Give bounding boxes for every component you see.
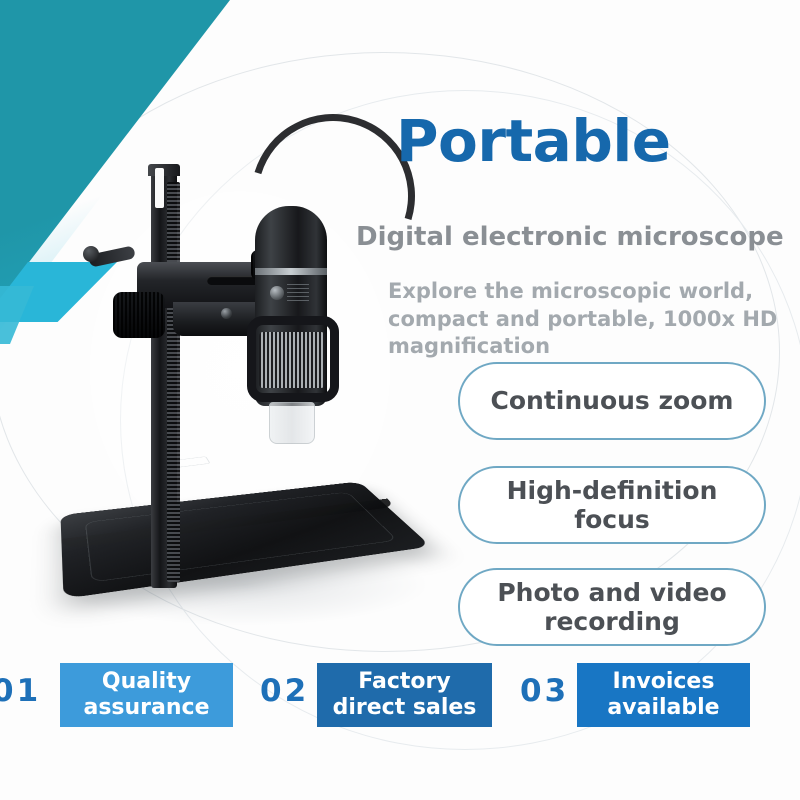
focus-adjust-knob	[113, 292, 165, 338]
badge-number: 03	[520, 673, 569, 709]
rack-teeth	[167, 182, 180, 582]
feature-pill-high-definition-focus[interactable]: High-definition focus	[458, 466, 766, 544]
badge-label: Invoices available	[587, 669, 740, 722]
post-slot	[155, 168, 164, 208]
badge-invoices-available[interactable]: Invoices available	[577, 663, 750, 727]
product-description: Explore the microscopic world, compact a…	[388, 278, 800, 361]
camera-label	[287, 284, 309, 302]
selling-point-badges: 01 Quality assurance 02 Factory direct s…	[0, 655, 800, 745]
product-image	[55, 120, 435, 640]
badge-quality-assurance[interactable]: Quality assurance	[60, 663, 233, 727]
badge-number: 01	[0, 673, 41, 709]
camera-capture-button	[270, 286, 284, 300]
clamp-arm-screw	[221, 308, 232, 319]
badge-number: 02	[260, 673, 309, 709]
feature-pill-label: High-definition focus	[474, 476, 750, 535]
feature-pill-photo-and-video-recording[interactable]: Photo and video recording	[458, 568, 766, 646]
post-top-cap	[148, 164, 180, 176]
feature-pill-label: Photo and video recording	[474, 578, 750, 637]
page-title: Portable	[396, 112, 671, 170]
badge-factory-direct-sales[interactable]: Factory direct sales	[317, 663, 492, 727]
feature-pill-label: Continuous zoom	[491, 386, 734, 416]
feature-pill-continuous-zoom[interactable]: Continuous zoom	[458, 362, 766, 440]
lens-cap	[269, 402, 315, 444]
badge-label: Factory direct sales	[327, 669, 482, 722]
adjust-lever-knob	[83, 246, 99, 262]
product-subtitle: Digital electronic microscope	[356, 222, 784, 252]
camera-silver-ring	[255, 268, 327, 275]
camera-holder-clip	[247, 316, 339, 402]
badge-label: Quality assurance	[70, 669, 223, 722]
product-poster: Portable Digital electronic microscope E…	[0, 0, 800, 800]
